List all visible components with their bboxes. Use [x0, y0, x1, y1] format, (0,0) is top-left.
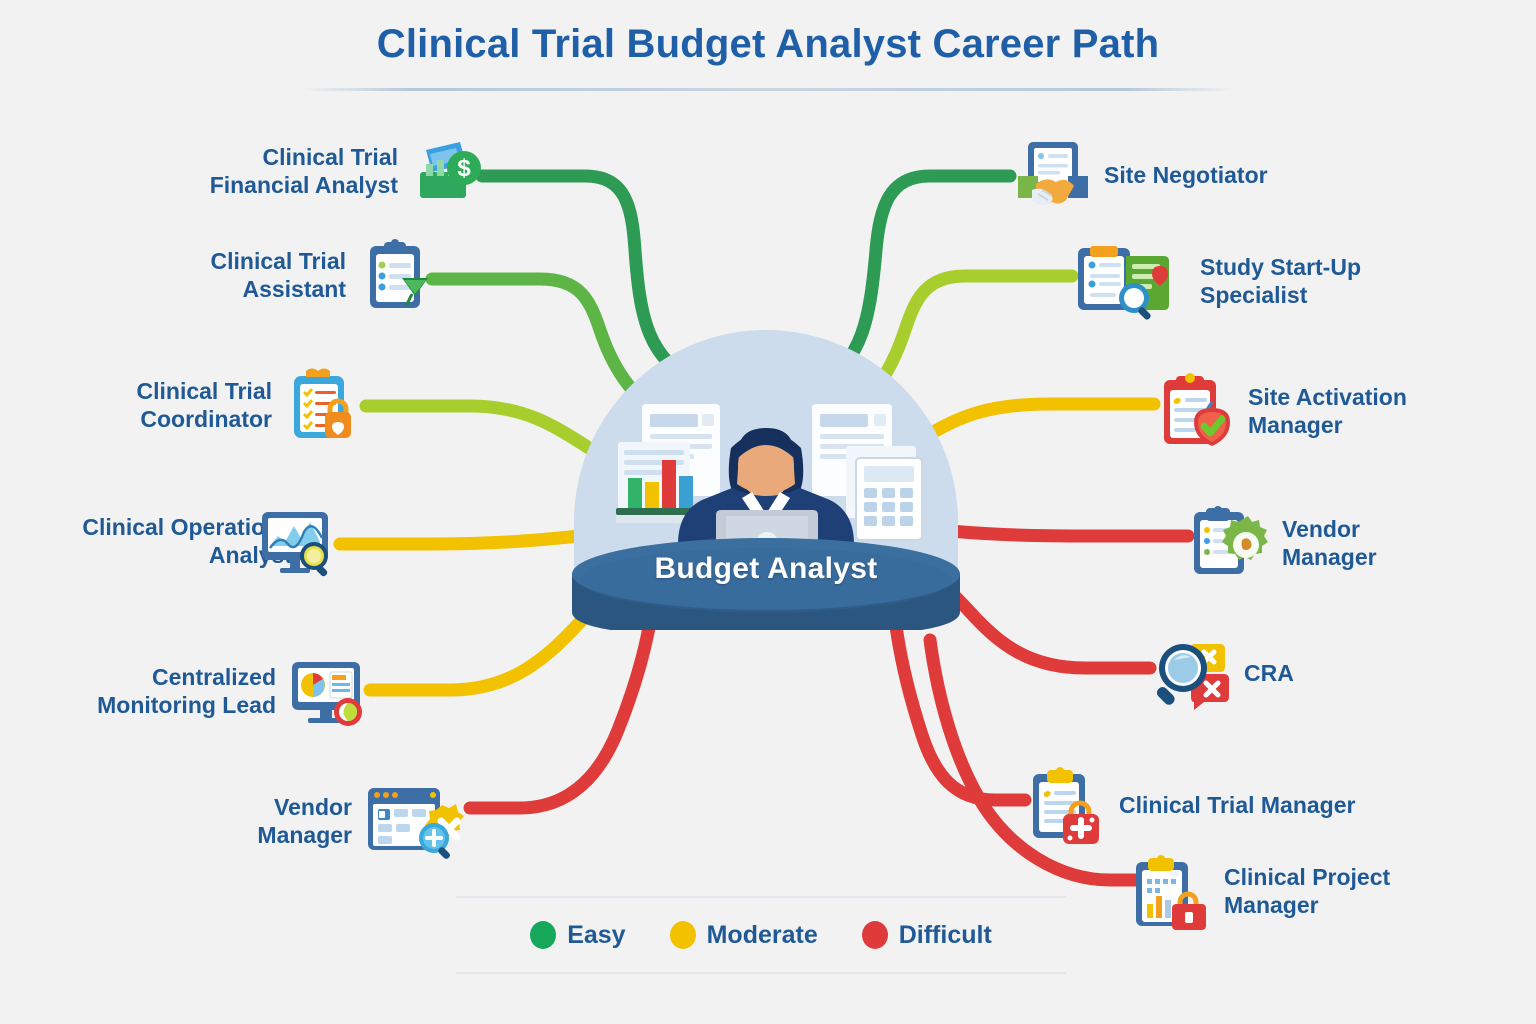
node-label: CRA: [1244, 659, 1294, 687]
legend-dot-moderate: [670, 921, 696, 949]
node-label: Clinical Trial Assistant: [211, 247, 347, 303]
svg-text:$: $: [457, 155, 471, 182]
money-dollar-icon: $: [406, 128, 492, 214]
node-clinical-trial-financial-analyst[interactable]: Clinical Trial Financial Analyst $: [196, 128, 492, 214]
monitor-chart-search-icon: [254, 498, 340, 584]
center-hub-label: Budget Analyst: [556, 552, 976, 586]
legend-item-easy: Easy: [530, 921, 625, 950]
node-clinical-trial-coordinator[interactable]: Clinical Trial Coordinator: [84, 362, 366, 448]
node-clinical-project-manager[interactable]: Clinical Project Manager: [1130, 848, 1390, 934]
legend-item-moderate: Moderate: [670, 921, 818, 950]
node-centralized-monitoring-lead[interactable]: Centralized Monitoring Lead: [58, 648, 370, 734]
clipboard-folder-search-icon: [1072, 238, 1192, 324]
node-label: Vendor Manager: [257, 793, 352, 849]
legend-item-difficult: Difficult: [862, 921, 992, 950]
node-label: Clinical Project Manager: [1224, 863, 1390, 919]
center-hub: Budget Analyst: [556, 330, 976, 630]
clipboard-gear-icon: [1188, 500, 1274, 586]
node-label: Clinical Trial Manager: [1119, 791, 1355, 819]
node-vendor-manager-left[interactable]: Vendor Manager: [240, 778, 470, 864]
clipboard-lock-icon: [280, 362, 366, 448]
clipboard-briefcase-icon: [1130, 848, 1216, 934]
node-label: Centralized Monitoring Lead: [97, 663, 276, 719]
node-clinical-trial-assistant[interactable]: Clinical Trial Assistant: [160, 232, 440, 318]
node-label: Clinical Trial Financial Analyst: [210, 143, 398, 199]
node-label: Vendor Manager: [1282, 515, 1377, 571]
node-label: Study Start-Up Specialist: [1200, 253, 1361, 309]
clipboard-medical-bag-icon: [1025, 762, 1111, 848]
monitor-dashboard-icon: [284, 648, 370, 734]
node-study-startup-specialist[interactable]: Study Start-Up Specialist: [1072, 238, 1361, 324]
magnifier-chat-icon: [1150, 630, 1236, 716]
node-cra[interactable]: CRA: [1150, 630, 1294, 716]
browser-window-search-icon: [360, 778, 470, 864]
clipboard-shield-check-icon: [1154, 368, 1240, 454]
node-clinical-trial-manager[interactable]: Clinical Trial Manager: [1025, 762, 1355, 848]
node-vendor-manager-right[interactable]: Vendor Manager: [1188, 500, 1377, 586]
node-label: Site Activation Manager: [1248, 383, 1407, 439]
legend: Easy Moderate Difficult: [456, 896, 1066, 974]
node-site-activation-manager[interactable]: Site Activation Manager: [1154, 368, 1407, 454]
legend-label: Moderate: [707, 921, 818, 950]
node-clinical-operations-analyst[interactable]: Clinical Operations Analyst: [26, 498, 340, 584]
legend-label: Easy: [567, 921, 625, 950]
legend-dot-difficult: [862, 921, 888, 949]
node-label: Site Negotiator: [1104, 161, 1268, 189]
legend-dot-easy: [530, 921, 556, 949]
node-site-negotiator[interactable]: Site Negotiator: [1010, 132, 1268, 218]
clipboard-checkmark-icon: [354, 232, 440, 318]
legend-label: Difficult: [899, 921, 992, 950]
handshake-tablet-icon: [1010, 132, 1096, 218]
node-label: Clinical Trial Coordinator: [137, 377, 273, 433]
